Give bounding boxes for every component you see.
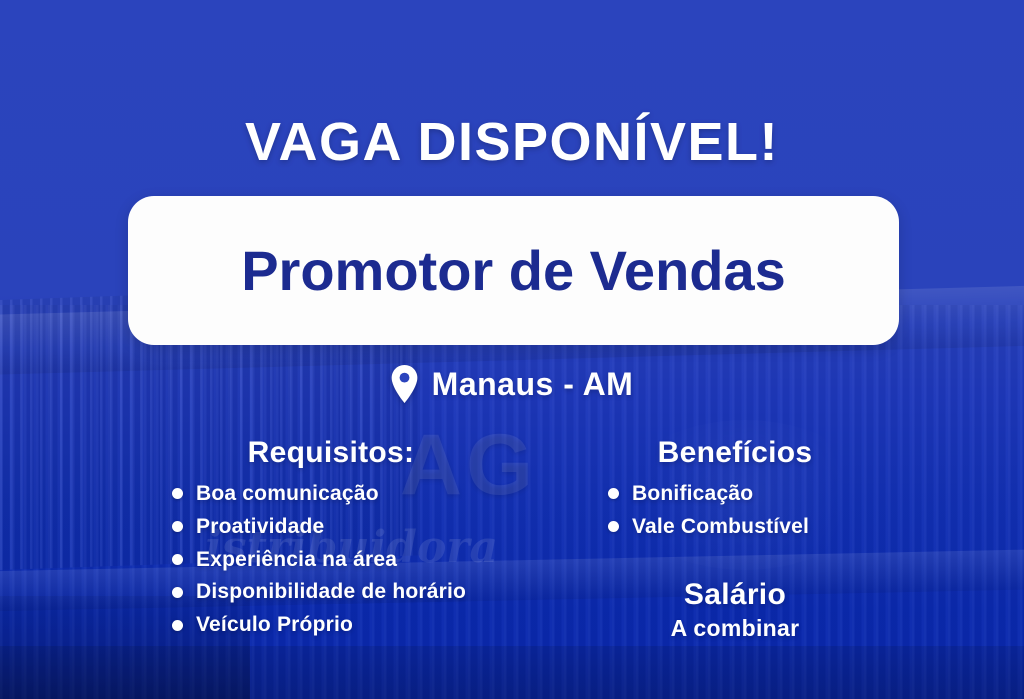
location-row: Manaus - AM [0,365,1024,403]
headline-vaga-disponivel: VAGA DISPONÍVEL! [0,111,1024,173]
requirement-label: Veículo Próprio [196,610,353,640]
benefits-heading: Benefícios [570,436,900,470]
salary-heading: Salário [570,578,900,613]
requirement-label: Experiência na área [196,545,397,575]
list-item: Disponibilidade de horário [172,577,520,607]
requirements-column: Requisitos: Boa comunicação Proatividade… [160,436,520,643]
bullet-dot-icon [608,521,619,532]
list-item: Vale Combustível [608,512,900,542]
list-item: Proatividade [172,512,520,542]
map-pin-icon [391,365,418,403]
benefits-column: Benefícios Bonificação Vale Combustível [570,436,900,545]
list-item: Boa comunicação [172,479,520,509]
list-item: Bonificação [608,479,900,509]
requirement-label: Disponibilidade de horário [196,577,466,607]
bullet-dot-icon [172,587,183,598]
benefit-label: Vale Combustível [632,512,809,542]
job-vacancy-poster: AG istribuidora VAGA DISPONÍVEL! Promoto… [0,0,1024,699]
bullet-dot-icon [172,620,183,631]
requirements-heading: Requisitos: [160,436,520,470]
requirements-list: Boa comunicação Proatividade Experiência… [160,479,520,640]
salary-value: A combinar [570,615,900,642]
list-item: Experiência na área [172,545,520,575]
requirement-label: Boa comunicação [196,479,379,509]
list-item: Veículo Próprio [172,610,520,640]
bullet-dot-icon [172,521,183,532]
location-text: Manaus - AM [432,366,634,403]
job-title-card: Promotor de Vendas [128,196,899,345]
bullet-dot-icon [172,554,183,565]
poster-content: VAGA DISPONÍVEL! Promotor de Vendas Mana… [0,0,1024,699]
benefits-list: Bonificação Vale Combustível [570,479,900,542]
job-title-text: Promotor de Vendas [241,238,786,303]
bullet-dot-icon [172,488,183,499]
benefit-label: Bonificação [632,479,753,509]
salary-block: Salário A combinar [570,578,900,642]
requirement-label: Proatividade [196,512,324,542]
details-columns: Requisitos: Boa comunicação Proatividade… [0,436,1024,666]
bullet-dot-icon [608,488,619,499]
